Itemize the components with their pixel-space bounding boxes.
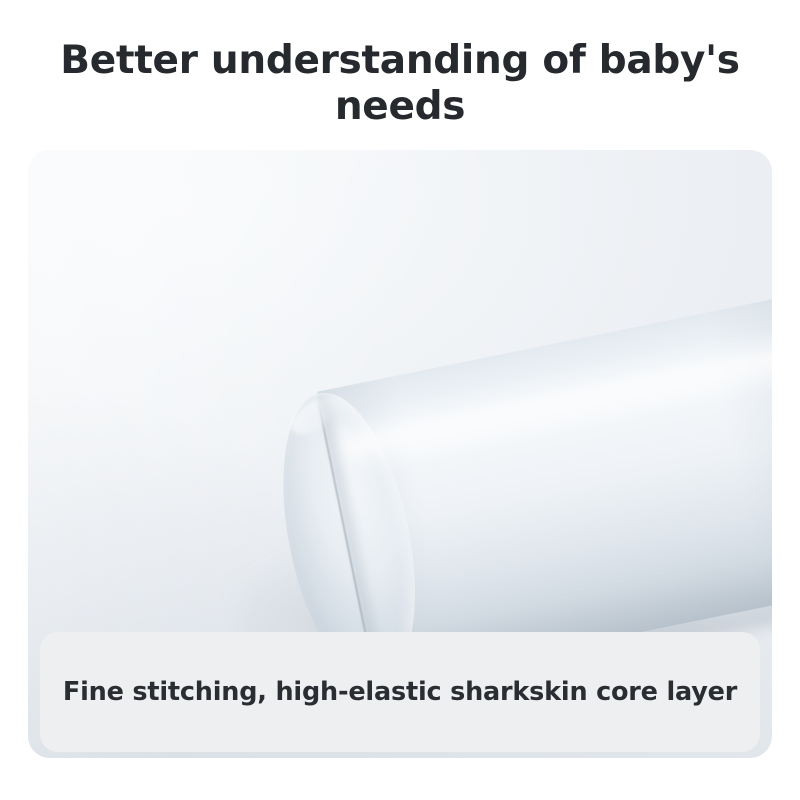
page-title: Better understanding of baby's needs	[40, 38, 760, 130]
product-feature-card: Better understanding of baby's needs Fin…	[0, 0, 800, 800]
caption-text: Fine stitching, high-elastic sharkskin c…	[63, 677, 737, 707]
caption-bar: Fine stitching, high-elastic sharkskin c…	[40, 632, 760, 752]
